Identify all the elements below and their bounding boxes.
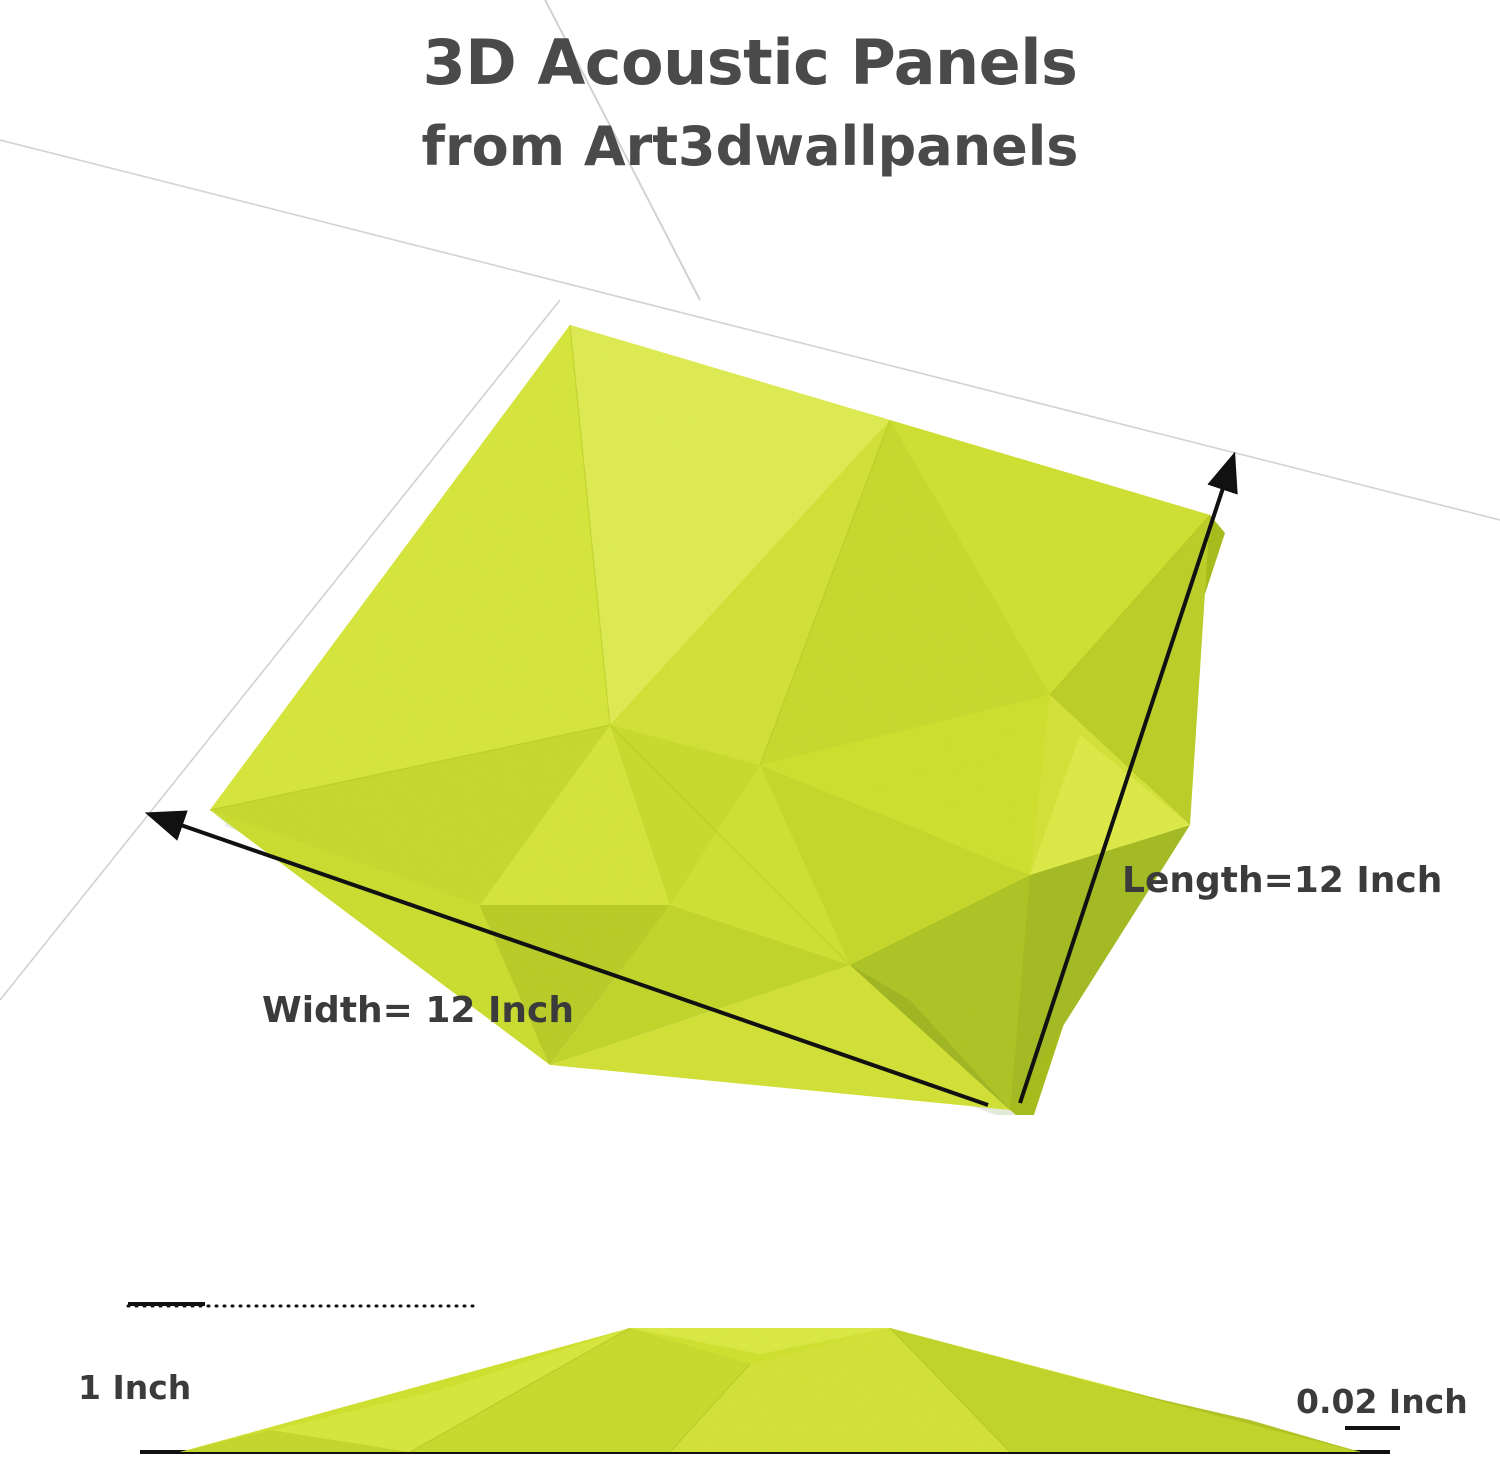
panel-illustration (150, 265, 1270, 1115)
acoustic-panel-top-view (150, 265, 1270, 1115)
side-profile-illustration (110, 1280, 1410, 1469)
page-subtitle: from Art3dwallpanels (0, 117, 1500, 176)
product-infographic: 3D Acoustic Panels from Art3dwallpanels (0, 0, 1500, 1469)
acoustic-panel-side-view (110, 1280, 1410, 1469)
label-width: Width= 12 Inch (262, 990, 574, 1031)
page-title: 3D Acoustic Panels (0, 30, 1500, 95)
label-length: Length=12 Inch (1122, 860, 1442, 901)
title-block: 3D Acoustic Panels from Art3dwallpanels (0, 30, 1500, 176)
